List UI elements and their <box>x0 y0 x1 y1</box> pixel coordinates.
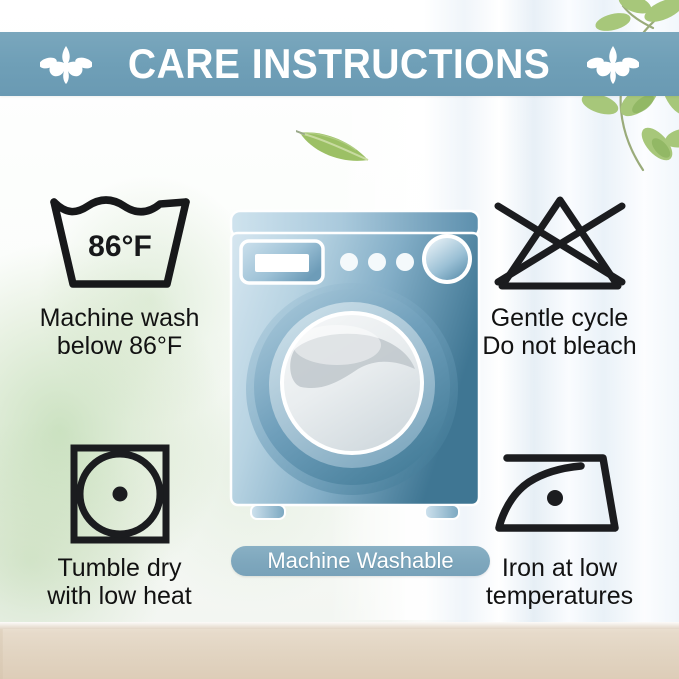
control-button-1 <box>340 253 358 271</box>
control-button-2 <box>368 253 386 271</box>
machine-washable-badge: Machine Washable <box>231 546 490 576</box>
care-symbol-tumble-dry: Tumble dry with low heat <box>12 440 227 610</box>
control-dial <box>426 238 468 280</box>
machine-foot-right <box>425 505 459 519</box>
caption-tumble-dry: Tumble dry with low heat <box>12 554 227 610</box>
wash-temperature-label: 86°F <box>88 230 152 263</box>
wash-tub-icon: 86°F <box>12 190 227 298</box>
detergent-drawer-slot <box>255 254 309 272</box>
table-wood-grain <box>0 629 679 679</box>
floating-leaf-icon <box>296 124 374 166</box>
fleur-de-lis-icon-right <box>587 42 639 86</box>
door-glass-gloss <box>293 325 381 365</box>
tumble-dry-icon <box>12 440 227 548</box>
header-banner: CARE INSTRUCTIONS <box>0 32 679 96</box>
machine-washable-label: Machine Washable <box>267 550 453 572</box>
washing-machine-illustration <box>225 209 485 534</box>
machine-foot-left <box>251 505 285 519</box>
caption-machine-wash: Machine wash below 86°F <box>12 304 227 360</box>
care-instructions-infographic: CARE INSTRUCTIONS 86°F Machine wash belo… <box>0 0 679 679</box>
control-button-3 <box>396 253 414 271</box>
page-title: CARE INSTRUCTIONS <box>128 43 550 85</box>
table-edge <box>0 622 679 629</box>
fleur-de-lis-icon-left <box>40 42 92 86</box>
care-symbol-machine-wash: 86°F Machine wash below 86°F <box>12 190 227 360</box>
